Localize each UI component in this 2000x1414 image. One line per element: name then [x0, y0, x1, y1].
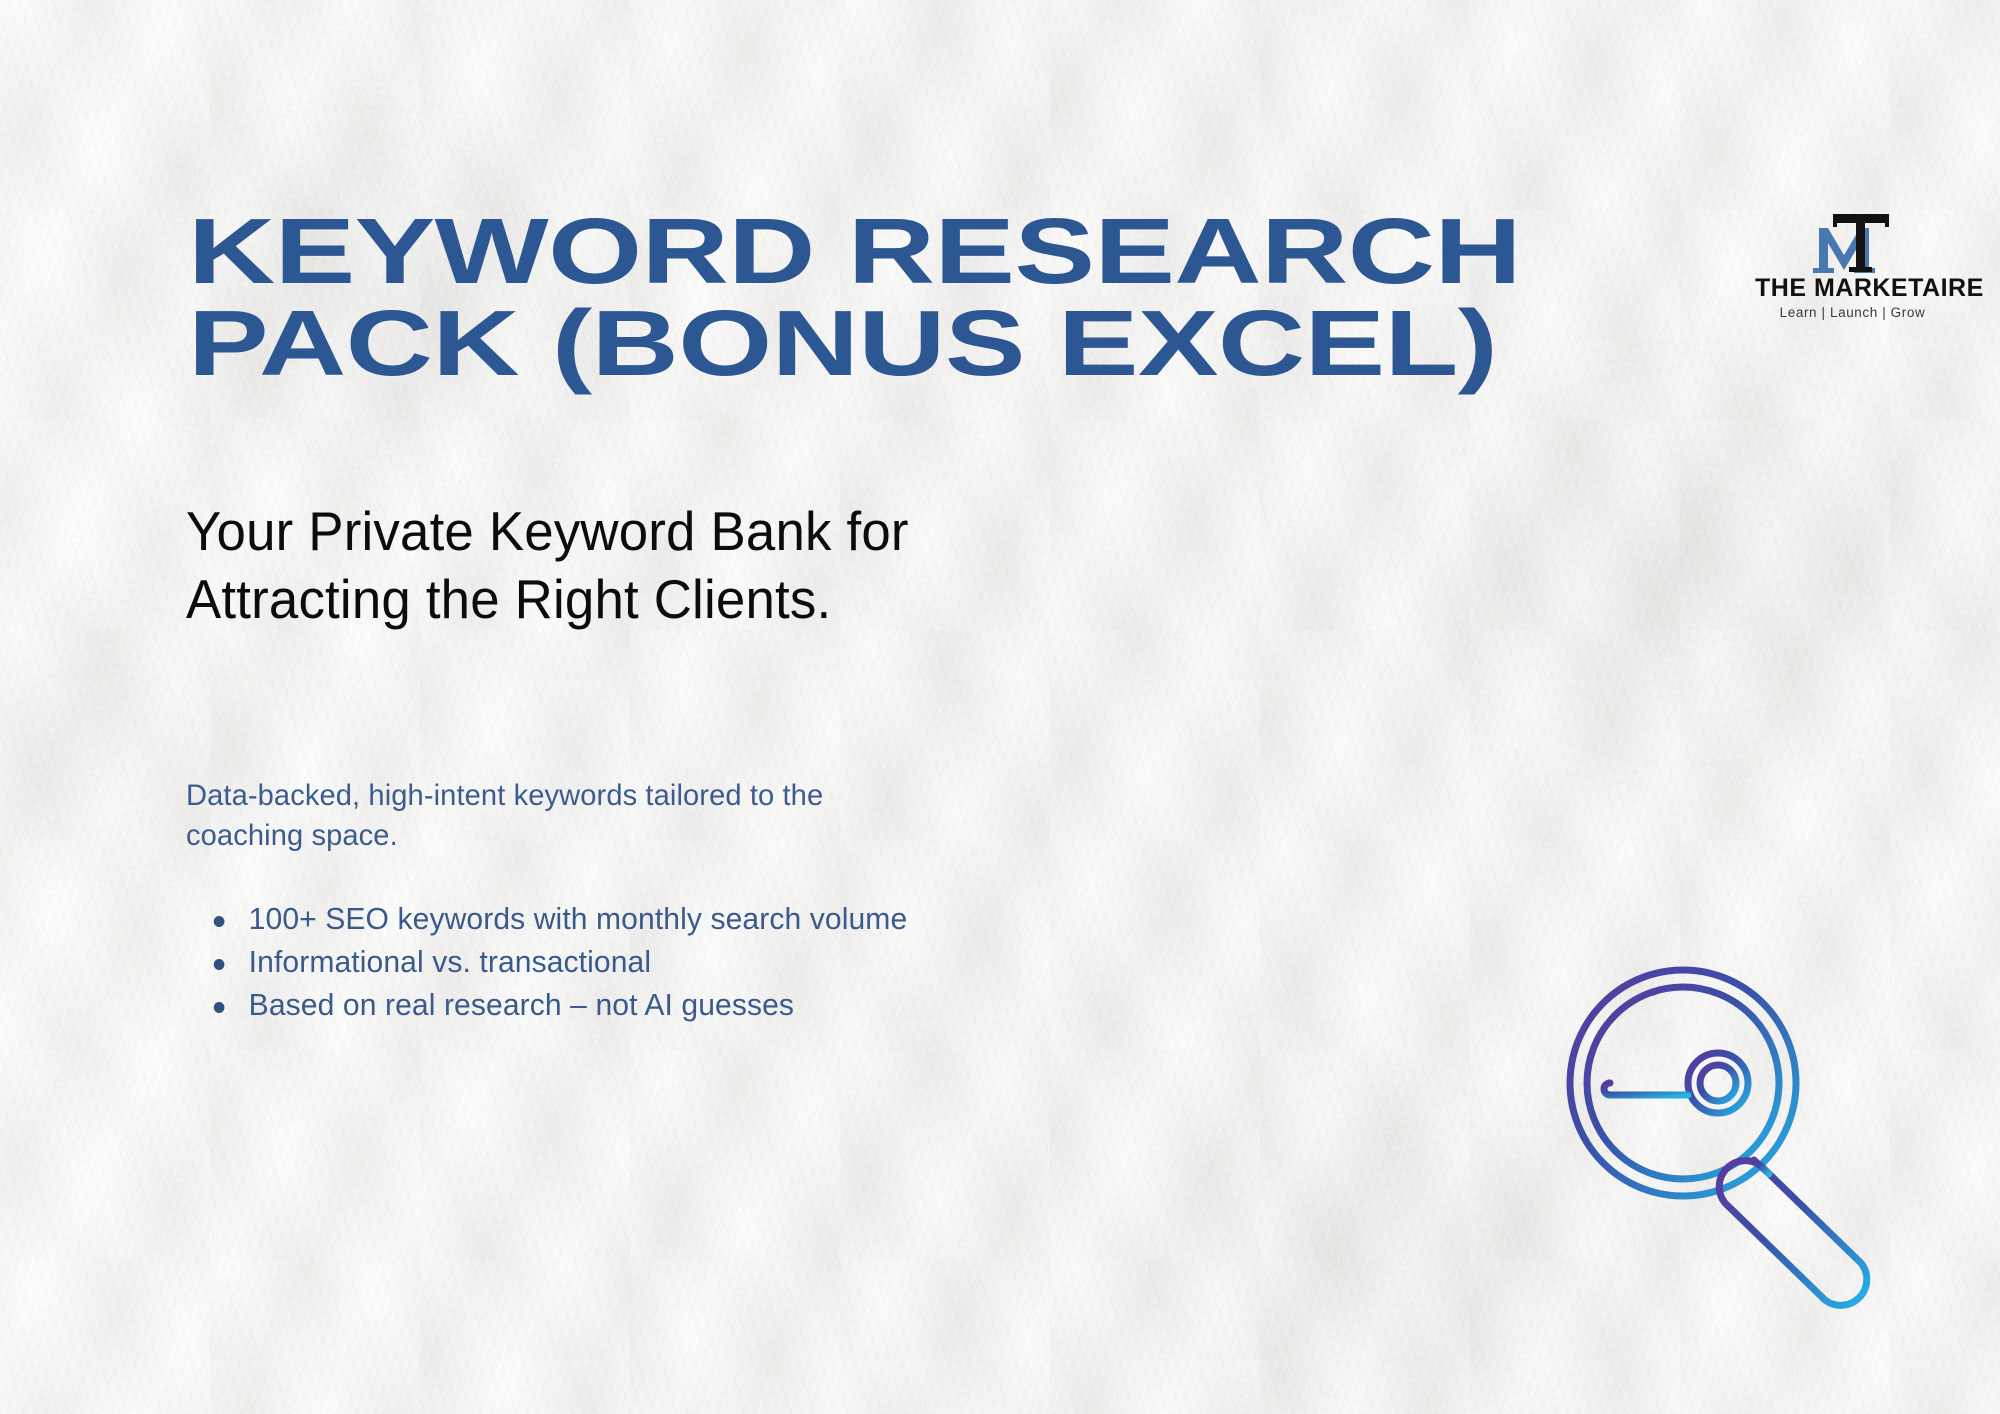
slide-content: KEYWORD RESEARCH PACK (BONUS EXCEL) — [0, 0, 2000, 1414]
subtitle-line-1: Your Private Keyword Bank for — [186, 497, 1204, 565]
lead-line-1: Data-backed, high-intent keywords tailor… — [186, 776, 1175, 816]
brand-logo: THE MARKETAIRE Learn | Launch | Grow — [1755, 212, 1950, 320]
subtitle-line-2: Attracting the Right Clients. — [186, 565, 1204, 633]
list-item-label: 100+ SEO keywords with monthly search vo… — [249, 901, 908, 936]
list-item-label: Based on real research – not AI guesses — [249, 987, 794, 1022]
list-item: Informational vs. transactional — [206, 941, 1234, 984]
page-title-line-1: KEYWORD RESEARCH — [188, 208, 1722, 294]
lead-line-2: coaching space. — [186, 816, 1175, 856]
page-title-line-2: PACK (BONUS EXCEL) — [188, 300, 1722, 386]
subtitle: Your Private Keyword Bank for Attracting… — [186, 497, 1204, 633]
feature-bullet-list: 100+ SEO keywords with monthly search vo… — [206, 898, 1266, 1026]
bullet-dot-icon — [214, 916, 225, 927]
bullet-dot-icon — [214, 959, 225, 970]
logo-tagline: Learn | Launch | Grow — [1755, 306, 1950, 320]
logo-name: THE MARKETAIRE — [1755, 276, 1950, 301]
bullet-dot-icon — [214, 1002, 225, 1013]
slide-canvas: KEYWORD RESEARCH PACK (BONUS EXCEL) — [0, 0, 2000, 1414]
list-item-label: Informational vs. transactional — [249, 944, 651, 979]
list-item: 100+ SEO keywords with monthly search vo… — [206, 898, 1234, 941]
magnifier-key-icon — [1548, 938, 1938, 1310]
page-title: KEYWORD RESEARCH PACK (BONUS EXCEL) — [188, 208, 1368, 387]
list-item: Based on real research – not AI guesses — [206, 984, 1234, 1027]
lead-paragraph: Data-backed, high-intent keywords tailor… — [186, 776, 1175, 856]
tm-monogram-icon — [1755, 212, 1950, 274]
